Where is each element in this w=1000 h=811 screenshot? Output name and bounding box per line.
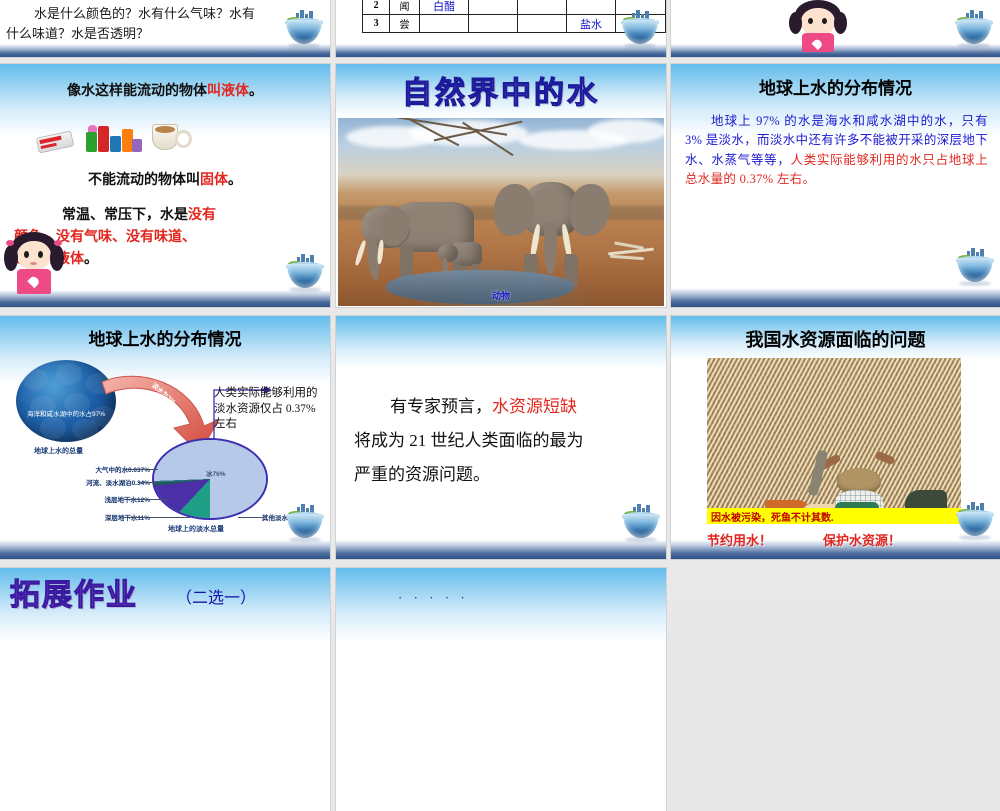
slogan-save-water: 节约用水！	[707, 530, 772, 549]
cell[interactable]	[469, 15, 518, 33]
globe-bowl-logo	[621, 501, 661, 541]
cell[interactable]	[469, 0, 518, 15]
callout-text: 人类实际能够利用的淡水资源仅占 0.37% 左右	[214, 386, 328, 433]
building-blocks-icon	[86, 122, 142, 152]
bones	[608, 242, 658, 264]
text-highlight: 水资源短缺	[492, 397, 577, 416]
cell[interactable]	[518, 0, 567, 15]
cell[interactable]	[518, 15, 567, 33]
globe-bowl-logo	[285, 251, 325, 291]
text-a: 常温、常压下，水是	[62, 208, 188, 223]
cell[interactable]: 盐水	[566, 15, 616, 33]
cartoon-girl-avatar	[789, 0, 847, 52]
question-line-1: 水是什么颜色的？水有什么气味？水有	[34, 4, 255, 24]
page-title: 地球上水的分布情况	[0, 325, 330, 350]
row-number: 3	[363, 15, 390, 33]
text-a: 有专家预言，	[390, 397, 492, 416]
text-d: 。	[84, 252, 98, 267]
slide-thumbnail-water-distribution-text[interactable]: 地球上水的分布情况 地球上 97% 的水是海水和咸水湖中的水，只有 3% 是淡水…	[671, 64, 1000, 307]
globe-bowl-logo	[955, 499, 995, 539]
prediction-line-3: 严重的资源问题。	[354, 462, 490, 488]
page-title: 我国水资源面临的问题	[671, 326, 1000, 352]
text-highlight: 固体	[200, 173, 228, 188]
cartoon-girl-avatar	[4, 232, 64, 294]
row-action: 尝	[390, 15, 420, 33]
wordart-title: 自然界中的水	[336, 68, 666, 112]
freshwater-pie-chart	[152, 438, 268, 520]
dead-fish-photo	[707, 358, 961, 516]
text-highlight: 叫液体	[207, 84, 249, 99]
globe-bowl-logo	[954, 7, 994, 47]
page-title: 地球上水的分布情况	[671, 74, 1000, 99]
body-paragraph: 地球上 97% 的水是海水和咸水湖中的水，只有 3% 是淡水，而淡水中还有许多不…	[685, 112, 988, 190]
text-a: 不能流动的物体叫	[88, 173, 200, 188]
water-property-line-1: 常温、常压下，水是没有	[62, 204, 216, 224]
slide-thumbnail-water-in-nature[interactable]: 自然界中的水	[336, 64, 666, 307]
slide-thumbnail-observation-table[interactable]: 2 闻 白醋 3 尝 盐水 清水	[336, 0, 666, 57]
photo-caption-highlight: 因水被污染，死鱼不计其数.	[707, 508, 961, 524]
slide-thumbnail-water-properties-question[interactable]: （二）、实验探究： 水是什么颜色的？水有什么气味？水有 什么味道？水是否透明？	[0, 0, 330, 57]
homework-subtitle: （二选一）	[176, 584, 256, 608]
photo-caption: 动物	[338, 289, 664, 302]
slide-thumbnail-china-water-problems[interactable]: 我国水资源面临的问题 因水被污染，死鱼不计其数. 节约用	[671, 316, 1000, 559]
slide-thumbnail-liquid-solid-definition[interactable]: 像水这样能流动的物体叫液体。 不能流动的物体叫固体。	[0, 64, 330, 307]
prediction-line-2: 将成为 21 世纪人类面临的最为	[354, 428, 584, 454]
sphere-caption: 地球上水的总量	[34, 446, 83, 456]
elephants-photo: 动物	[338, 118, 664, 306]
slide-thumbnail-cartoon-girl[interactable]	[671, 0, 1000, 57]
question-line-2: 什么味道？水是否透明？	[6, 24, 149, 44]
liquid-definition-line: 像水这样能流动的物体叫液体。	[0, 80, 330, 100]
solid-definition-line: 不能流动的物体叫固体。	[0, 169, 330, 189]
cell[interactable]	[566, 0, 616, 15]
pie-caption: 地球上的淡水总量	[168, 524, 224, 534]
slide-thumbnail-expert-prediction[interactable]: 有专家预言，水资源短缺 将成为 21 世纪人类面临的最为 严重的资源问题。	[336, 316, 666, 559]
slide-thumbnail-bottom-middle[interactable]: · · · · ·	[336, 568, 666, 811]
row-number: 2	[363, 0, 390, 15]
globe-bowl-logo	[955, 245, 995, 285]
slide-thumbnail-water-distribution-chart[interactable]: 地球上水的分布情况 海洋和咸水湖中的水占97% 地球上水的总量 淡水为3%	[0, 316, 330, 559]
cell[interactable]: 白醋	[419, 0, 469, 15]
pie-label-rivers-lakes: 河流、淡水湖泊0.34%	[28, 477, 150, 487]
row-action: 闻	[390, 0, 420, 15]
globe-bowl-logo	[284, 7, 324, 47]
text-c: 。	[228, 173, 242, 188]
text-a: 像水这样能流动的物体	[67, 84, 207, 99]
coffee-mug-icon	[152, 122, 186, 152]
slide-thumbnail-extension-homework[interactable]: 拓展作业 （二选一）	[0, 568, 330, 811]
slogan-protect-water: 保护水资源！	[823, 530, 901, 549]
cell[interactable]	[419, 15, 469, 33]
text-highlight: 没有	[188, 208, 216, 223]
bullet-dots: · · · · ·	[398, 590, 469, 606]
text-c: 。	[249, 84, 263, 99]
prediction-line-1: 有专家预言，水资源短缺	[390, 394, 577, 420]
photo-caption-text: 因水被污染，死鱼不计其数.	[707, 508, 961, 525]
toothpaste-tube-icon	[36, 130, 75, 153]
wordart-title: 拓展作业	[10, 570, 138, 614]
globe-bowl-logo	[620, 7, 660, 47]
slide-thumbnail-grid: （二）、实验探究： 水是什么颜色的？水有什么气味？水有 什么味道？水是否透明？ …	[0, 0, 1000, 600]
ice-slice-label: 冰76%	[206, 468, 226, 478]
globe-bowl-logo	[285, 501, 325, 541]
